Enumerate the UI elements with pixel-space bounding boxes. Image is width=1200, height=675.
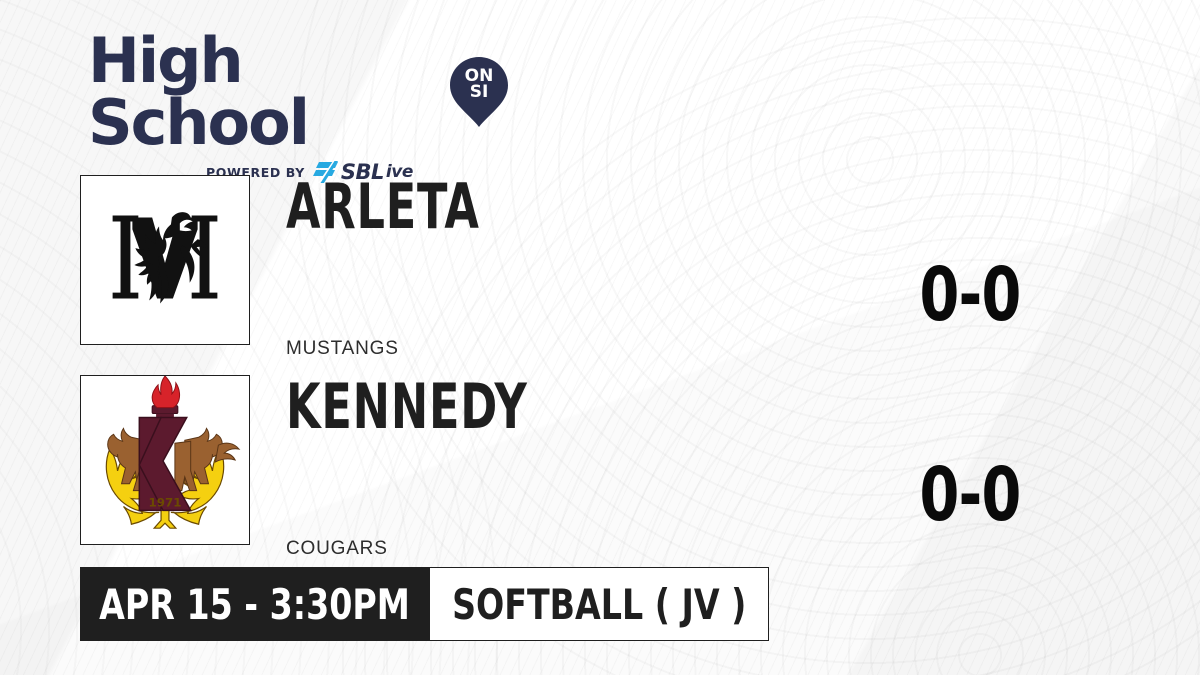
game-sport-segment: SOFTBALL ( JV ) — [430, 567, 769, 641]
home-team-score: 0-0 — [910, 458, 1030, 532]
on-si-pin-icon: ON SI — [450, 57, 508, 127]
away-team-logo — [80, 175, 250, 345]
away-team-name: ARLETA — [286, 176, 480, 238]
away-team-score: 0-0 — [910, 258, 1030, 332]
game-info-bar: APR 15 - 3:30PM SOFTBALL ( JV ) — [80, 567, 769, 641]
game-sport-text: SOFTBALL ( JV ) — [452, 580, 746, 629]
brand-lockup: High School ON SI POWERED BY — [88, 30, 508, 135]
home-logo-year: 1971 — [149, 495, 182, 509]
away-team-mascot: MUSTANGS — [286, 338, 399, 360]
game-datetime-segment: APR 15 - 3:30PM — [80, 567, 430, 641]
home-team-logo: 1971 — [80, 375, 250, 545]
home-team-mascot: COUGARS — [286, 538, 388, 560]
home-team-name: KENNEDY — [286, 376, 528, 438]
brand-title-row: High School ON SI — [88, 30, 508, 154]
on-si-pin-text: ON SI — [450, 68, 508, 100]
page-title: High School — [88, 30, 436, 154]
game-datetime-text: APR 15 - 3:30PM — [100, 580, 411, 629]
scoreboard-graphic: High School ON SI POWERED BY — [0, 0, 1200, 675]
pin-line-si: SI — [450, 84, 508, 100]
